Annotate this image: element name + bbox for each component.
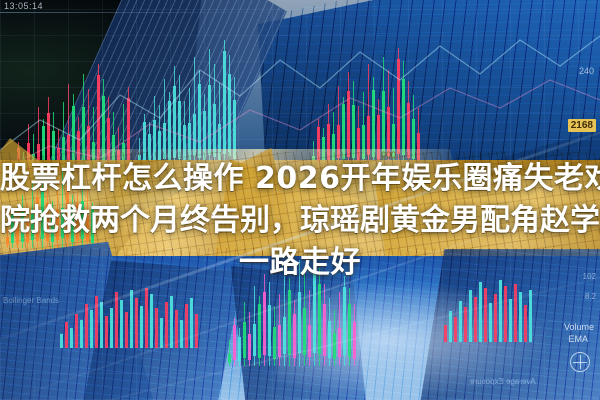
terminal-grid-overlay	[0, 0, 600, 400]
news-banner-image: 13:05:14 240 2168 000 102 8.2 Volume EMA…	[0, 0, 600, 400]
